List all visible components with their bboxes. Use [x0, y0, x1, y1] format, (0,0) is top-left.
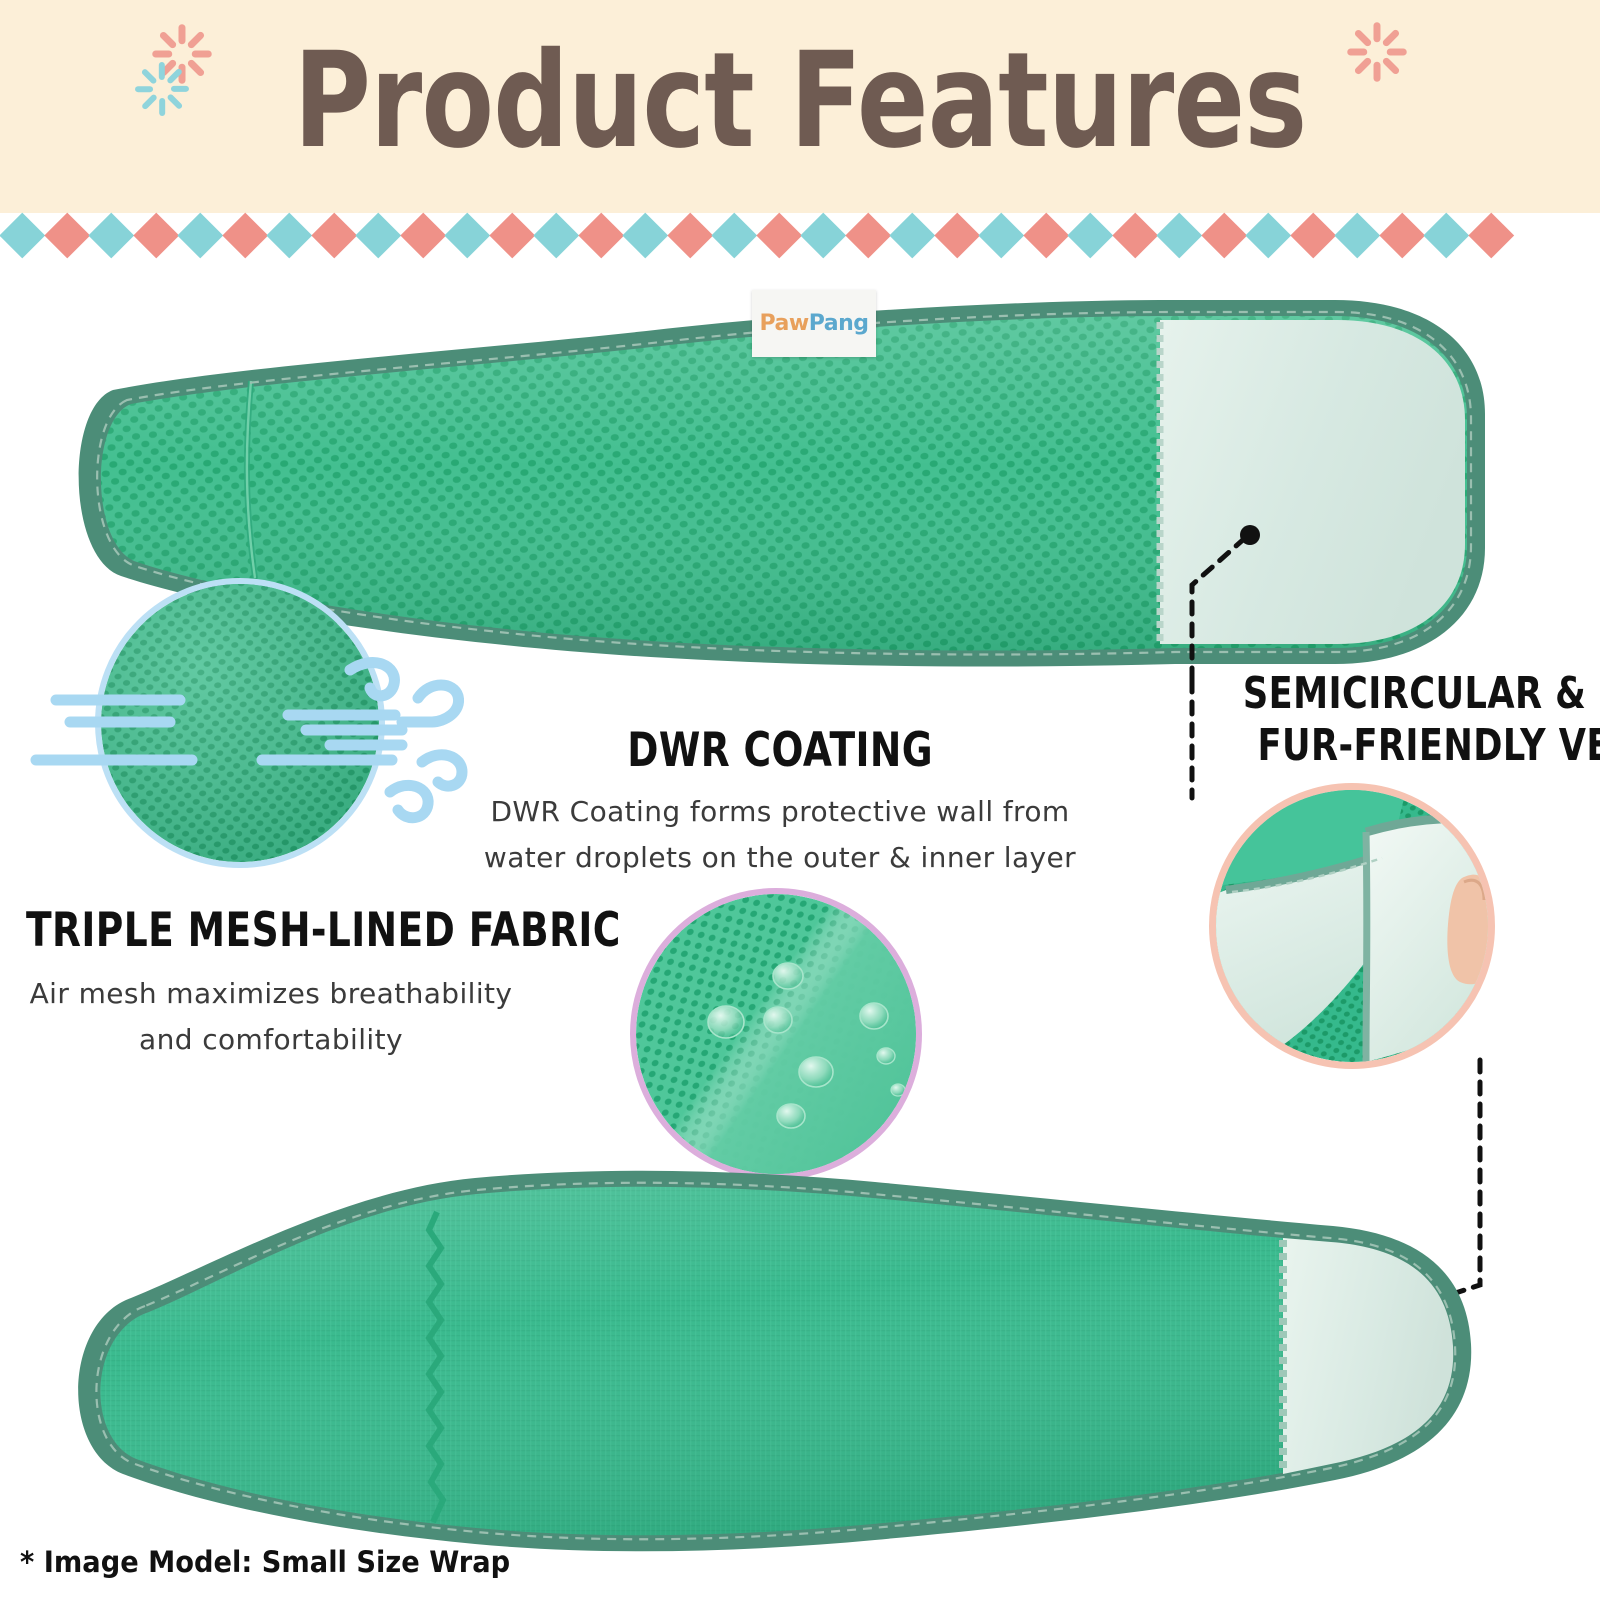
feature-triple-mesh-heading: TRIPLE MESH-LINED FABRIC [26, 905, 442, 957]
footnote: * Image Model: Small Size Wrap [20, 1545, 510, 1579]
brand-name-part1: Paw [760, 311, 809, 336]
divider-diamond [311, 213, 356, 258]
wind-icon [30, 630, 500, 860]
product-features-infographic: Product Features [0, 0, 1600, 1600]
divider-diamond [0, 213, 45, 258]
divider-diamond [44, 213, 89, 258]
divider-diamond [1468, 213, 1513, 258]
detail-circle-velcro [1209, 783, 1495, 1069]
divider-diamond [534, 213, 579, 258]
brand-tag: PawPang [752, 290, 876, 357]
feature-dwr: DWR COATING DWR Coating forms protective… [470, 725, 1090, 881]
divider-diamond [133, 213, 178, 258]
divider-diamond [400, 213, 445, 258]
divider-diamond [1112, 213, 1157, 258]
diamond-divider [0, 213, 1600, 269]
divider-diamond [578, 213, 623, 258]
feature-triple-mesh-body-1: Air mesh maximizes breathability [30, 977, 513, 1010]
divider-diamond [623, 213, 668, 258]
divider-diamond [667, 213, 712, 258]
divider-diamond [1290, 213, 1335, 258]
divider-diamond [1201, 213, 1246, 258]
feature-dwr-heading: DWR COATING [627, 725, 933, 777]
divider-diamond [1424, 213, 1469, 258]
divider-diamond [890, 213, 935, 258]
feature-velcro-heading-2: FUR-FRIENDLY VELCRO [1258, 720, 1600, 772]
divider-diamond [356, 213, 401, 258]
divider-diamond [267, 213, 312, 258]
feature-dwr-body-2: water droplets on the outer & inner laye… [484, 841, 1076, 874]
divider-diamond [1023, 213, 1068, 258]
divider-backing [0, 190, 1600, 213]
divider-diamond [979, 213, 1024, 258]
divider-diamond [1379, 213, 1424, 258]
divider-diamond [222, 213, 267, 258]
feature-triple-mesh: TRIPLE MESH-LINED FABRIC Air mesh maximi… [26, 905, 546, 1063]
divider-diamond [845, 213, 890, 258]
divider-diamond [1335, 213, 1380, 258]
header-band: Product Features [0, 0, 1600, 213]
divider-diamond [1246, 213, 1291, 258]
divider-diamond [489, 213, 534, 258]
divider-diamond [801, 213, 846, 258]
divider-diamond [89, 213, 134, 258]
leader-line-velcro-top [1170, 510, 1300, 690]
leader-line-velcro-top-lower [1170, 680, 1300, 800]
divider-diamond [934, 213, 979, 258]
feature-triple-mesh-body-2: and comfortability [139, 1023, 403, 1056]
product-wrap-bottom [45, 1130, 1535, 1560]
brand-name-part2: Pang [809, 311, 869, 336]
divider-diamond [445, 213, 490, 258]
divider-diamond [178, 213, 223, 258]
feature-dwr-body-1: DWR Coating forms protective wall from [490, 795, 1069, 828]
page-title: Product Features [160, 26, 1440, 176]
divider-diamond [1068, 213, 1113, 258]
divider-diamond [756, 213, 801, 258]
divider-diamond [712, 213, 757, 258]
divider-diamond [1157, 213, 1202, 258]
leader-dot [1240, 525, 1260, 545]
